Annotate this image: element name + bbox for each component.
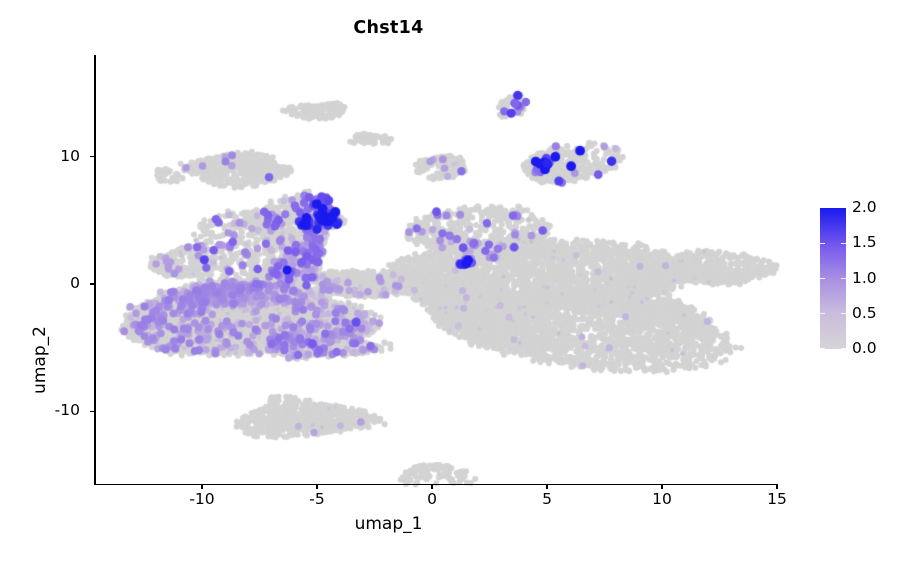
x-tick-label-3: 5 bbox=[517, 490, 577, 508]
colorbar bbox=[820, 208, 846, 349]
y-axis-spine bbox=[94, 55, 96, 485]
colorbar-tick-3-l bbox=[820, 313, 825, 314]
x-tick-3 bbox=[546, 484, 547, 489]
colorbar-label-3: 0.5 bbox=[852, 304, 877, 322]
colorbar-tick-2-l bbox=[820, 278, 825, 279]
x-tick-label-0: -10 bbox=[172, 490, 232, 508]
colorbar-label-2: 1.0 bbox=[852, 269, 877, 287]
x-tick-0 bbox=[201, 484, 202, 489]
colorbar-tick-1-r bbox=[841, 243, 846, 244]
x-tick-1 bbox=[316, 484, 317, 489]
y-tick-label-1: 0 bbox=[20, 274, 80, 292]
colorbar-label-4: 0.0 bbox=[852, 339, 877, 357]
colorbar-tick-4-r bbox=[841, 348, 846, 349]
colorbar-tick-3-r bbox=[841, 313, 846, 314]
colorbar-label-1: 1.5 bbox=[852, 233, 877, 251]
x-axis-spine bbox=[94, 484, 778, 486]
umap-scatter-canvas bbox=[0, 0, 911, 562]
x-axis-label: umap_1 bbox=[0, 514, 777, 534]
colorbar-tick-1-l bbox=[820, 243, 825, 244]
colorbar-tick-2-r bbox=[841, 278, 846, 279]
colorbar-tick-4-l bbox=[820, 348, 825, 349]
y-axis-label: umap_2 bbox=[30, 240, 50, 480]
y-tick-0 bbox=[90, 156, 95, 157]
y-axis-label-wrapper: umap_2 bbox=[5, 150, 29, 390]
colorbar-label-0: 2.0 bbox=[852, 198, 877, 216]
y-tick-2 bbox=[90, 411, 95, 412]
y-tick-label-2: -10 bbox=[20, 401, 80, 419]
figure-canvas: Chst14 -10-5051015 100-10 umap_1 umap_2 … bbox=[0, 0, 911, 562]
x-tick-label-5: 15 bbox=[747, 490, 807, 508]
y-tick-label-0: 10 bbox=[20, 147, 80, 165]
x-tick-label-1: -5 bbox=[287, 490, 347, 508]
x-tick-5 bbox=[776, 484, 777, 489]
x-tick-2 bbox=[431, 484, 432, 489]
y-tick-1 bbox=[90, 283, 95, 284]
x-tick-4 bbox=[661, 484, 662, 489]
x-tick-label-2: 0 bbox=[402, 490, 462, 508]
x-tick-label-4: 10 bbox=[632, 490, 692, 508]
